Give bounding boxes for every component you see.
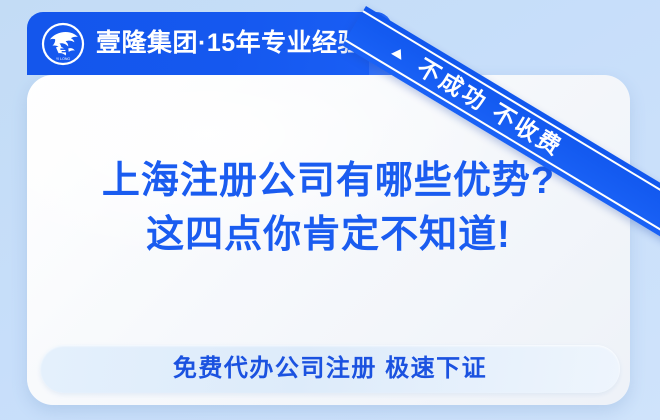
headline-line-2: 这四点你肯定不知道! — [27, 209, 630, 263]
logo-caption: YI LONG — [56, 56, 71, 60]
footer-cta-bar[interactable]: 免费代办公司注册 极速下证 — [40, 345, 620, 393]
brand-title: 壹隆集团·15年专业经验 — [96, 31, 363, 56]
brand-header: YI LONG 壹隆集团·15年专业经验 — [27, 12, 392, 75]
promo-poster: 上海注册公司有哪些优势? 这四点你肯定不知道! 免费代办公司注册 极速下证 YI… — [0, 0, 660, 420]
triangle-up-icon — [391, 46, 406, 60]
footer-cta-label: 免费代办公司注册 极速下证 — [173, 357, 487, 381]
company-dragon-emblem-icon: YI LONG — [41, 22, 85, 66]
headline-block: 上海注册公司有哪些优势? 这四点你肯定不知道! — [27, 155, 630, 263]
